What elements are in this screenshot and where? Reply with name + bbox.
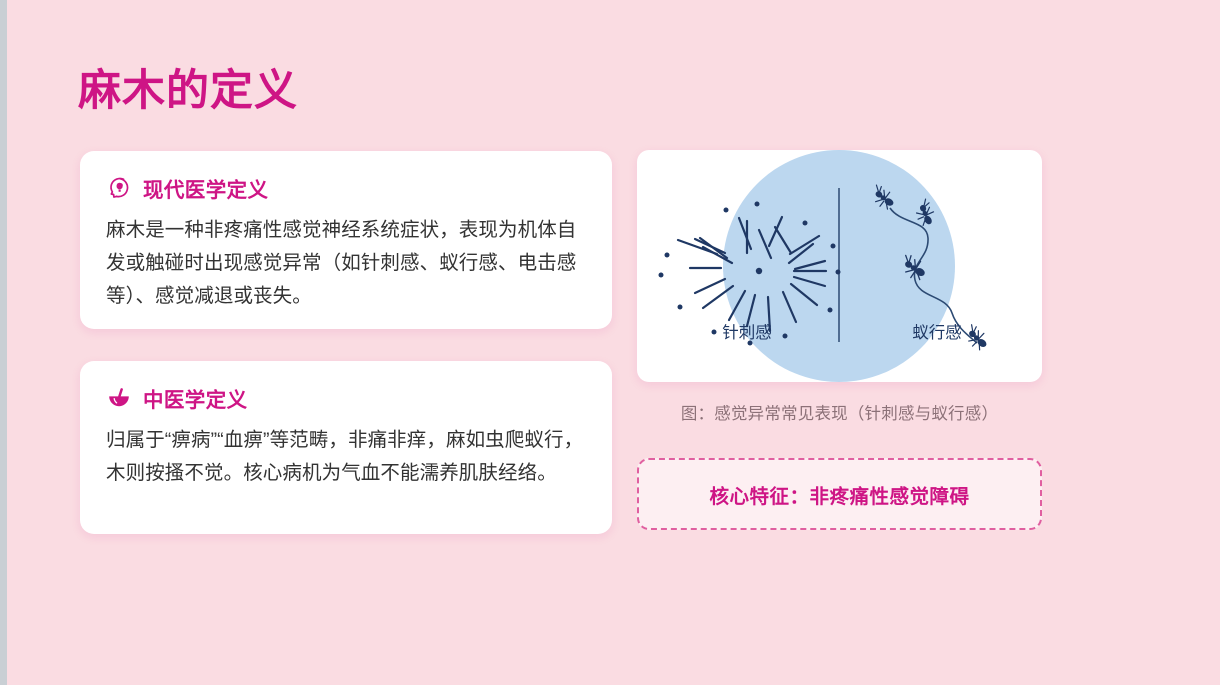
card-modern-header: 现代医学定义 — [80, 151, 612, 203]
card-modern-title: 现代医学定义 — [143, 173, 268, 203]
card-tcm-body: 归属于“痹病”“血痹”等范畴，非痛非痒，麻如虫爬蚁行，木则按搔不觉。核心病机为气… — [80, 413, 612, 490]
illustration-card: 针刺感 蚁行感 — [637, 150, 1042, 382]
ant — [962, 324, 992, 352]
left-edge-rail — [0, 0, 7, 685]
core-feature-text: 核心特征：非疼痛性感觉障碍 — [709, 480, 969, 509]
label-formication: 蚁行感 — [912, 323, 962, 342]
card-tcm-title: 中医学定义 — [143, 383, 248, 413]
core-feature-callout: 核心特征：非疼痛性感觉障碍 — [637, 458, 1042, 530]
head-brain-icon — [106, 175, 132, 201]
slide-root: 麻木的定义 现代医学定义 麻木是一种非疼痛性感觉神经系统症状，表现为机体自发或触… — [0, 0, 1220, 685]
illustration-caption: 图：感觉异常常见表现（针刺感与蚁行感） — [637, 400, 1042, 424]
card-modern-definition: 现代医学定义 麻木是一种非疼痛性感觉神经系统症状，表现为机体自发或触碰时出现感觉… — [80, 151, 612, 329]
mortar-pestle-icon — [106, 385, 132, 411]
starburst-center-dot — [756, 268, 762, 274]
page-title: 麻木的定义 — [78, 66, 298, 118]
card-tcm-definition: 中医学定义 归属于“痹病”“血痹”等范畴，非痛非痒，麻如虫爬蚁行，木则按搔不觉。… — [80, 361, 612, 534]
label-pins-needles: 针刺感 — [722, 323, 772, 342]
sensation-illustration: 针刺感 蚁行感 — [637, 150, 1042, 382]
card-tcm-header: 中医学定义 — [80, 361, 612, 413]
card-modern-body: 麻木是一种非疼痛性感觉神经系统症状，表现为机体自发或触碰时出现感觉异常（如针刺感… — [80, 203, 612, 313]
